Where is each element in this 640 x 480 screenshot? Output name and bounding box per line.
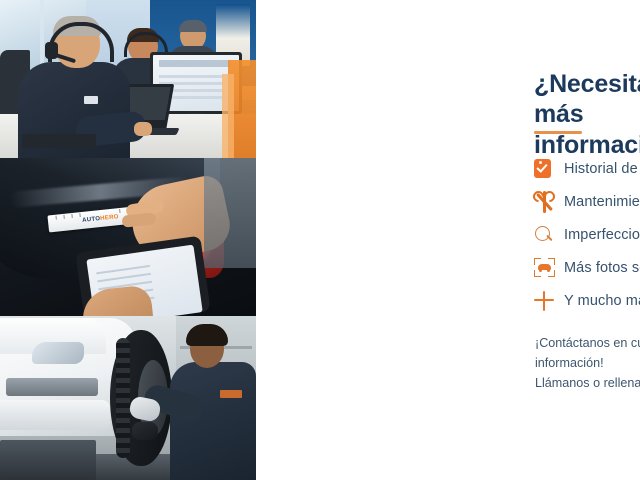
feature-label: Imperfecciones [564, 227, 640, 243]
feature-item-more[interactable]: Y mucho más [534, 284, 640, 317]
tools-icon [534, 192, 564, 212]
mechanic [166, 328, 256, 480]
mechanic-torso [170, 362, 256, 480]
screen-toolbar [159, 60, 231, 67]
feature-label: Historial de mantenimientos [564, 161, 640, 177]
contact-line-2: Llámanos o rellena el formulario de cont… [535, 373, 640, 393]
mechanic-wheel-inspection-photo [0, 316, 256, 480]
person-hair [179, 20, 207, 32]
mechanic-hair [186, 324, 228, 346]
front-bumper [0, 400, 110, 430]
keyboard [22, 134, 96, 148]
work-glove [132, 422, 158, 440]
feature-item-maintenance-done[interactable]: Mantenimiento realizado [534, 185, 640, 218]
maintenance-history-icon [534, 159, 564, 178]
tool-cabinet [0, 440, 96, 480]
call-center-agents-photo [0, 0, 256, 158]
feature-item-maintenance-history[interactable]: Historial de mantenimientos [534, 152, 640, 185]
feature-list: Historial de mantenimientos Mantenimient… [534, 152, 640, 317]
headlight [32, 342, 84, 364]
front-grille [6, 378, 98, 396]
plus-icon [534, 291, 564, 311]
title-divider [534, 131, 582, 134]
promo-card: AUTOHERO [0, 0, 640, 480]
feature-item-more-photos[interactable]: Más fotos sobre el coche [534, 251, 640, 284]
title-line-1: ¿Necesitas [534, 70, 640, 98]
screen-row [159, 75, 223, 78]
autohero-ruler-inspection-photo: AUTOHERO [0, 158, 256, 316]
uniform-logo [220, 390, 242, 398]
feature-item-imperfections[interactable]: Imperfecciones [534, 218, 640, 251]
magnifier-icon [534, 225, 564, 245]
background-person [204, 158, 256, 268]
autohero-logo: AUTOHERO [82, 214, 119, 224]
feature-label: Mantenimiento realizado [564, 194, 640, 210]
car-scan-icon [534, 258, 564, 277]
info-panel: ¿Necesitas más información? Estamos enca… [256, 0, 640, 480]
orange-equipment-detail [222, 74, 234, 158]
page-title: ¿Necesitas más información? [534, 69, 640, 161]
contact-paragraph: ¡Contáctanos en cualquier momento para m… [535, 333, 640, 394]
shirt-badge [84, 96, 98, 104]
photo-collage: AUTOHERO [0, 0, 256, 480]
agent-hand [134, 122, 152, 136]
feature-label: Y mucho más [564, 293, 640, 309]
feature-label: Más fotos sobre el coche [564, 260, 640, 276]
tyre-tread [116, 338, 130, 458]
contact-line-1: ¡Contáctanos en cualquier momento para m… [535, 333, 640, 374]
